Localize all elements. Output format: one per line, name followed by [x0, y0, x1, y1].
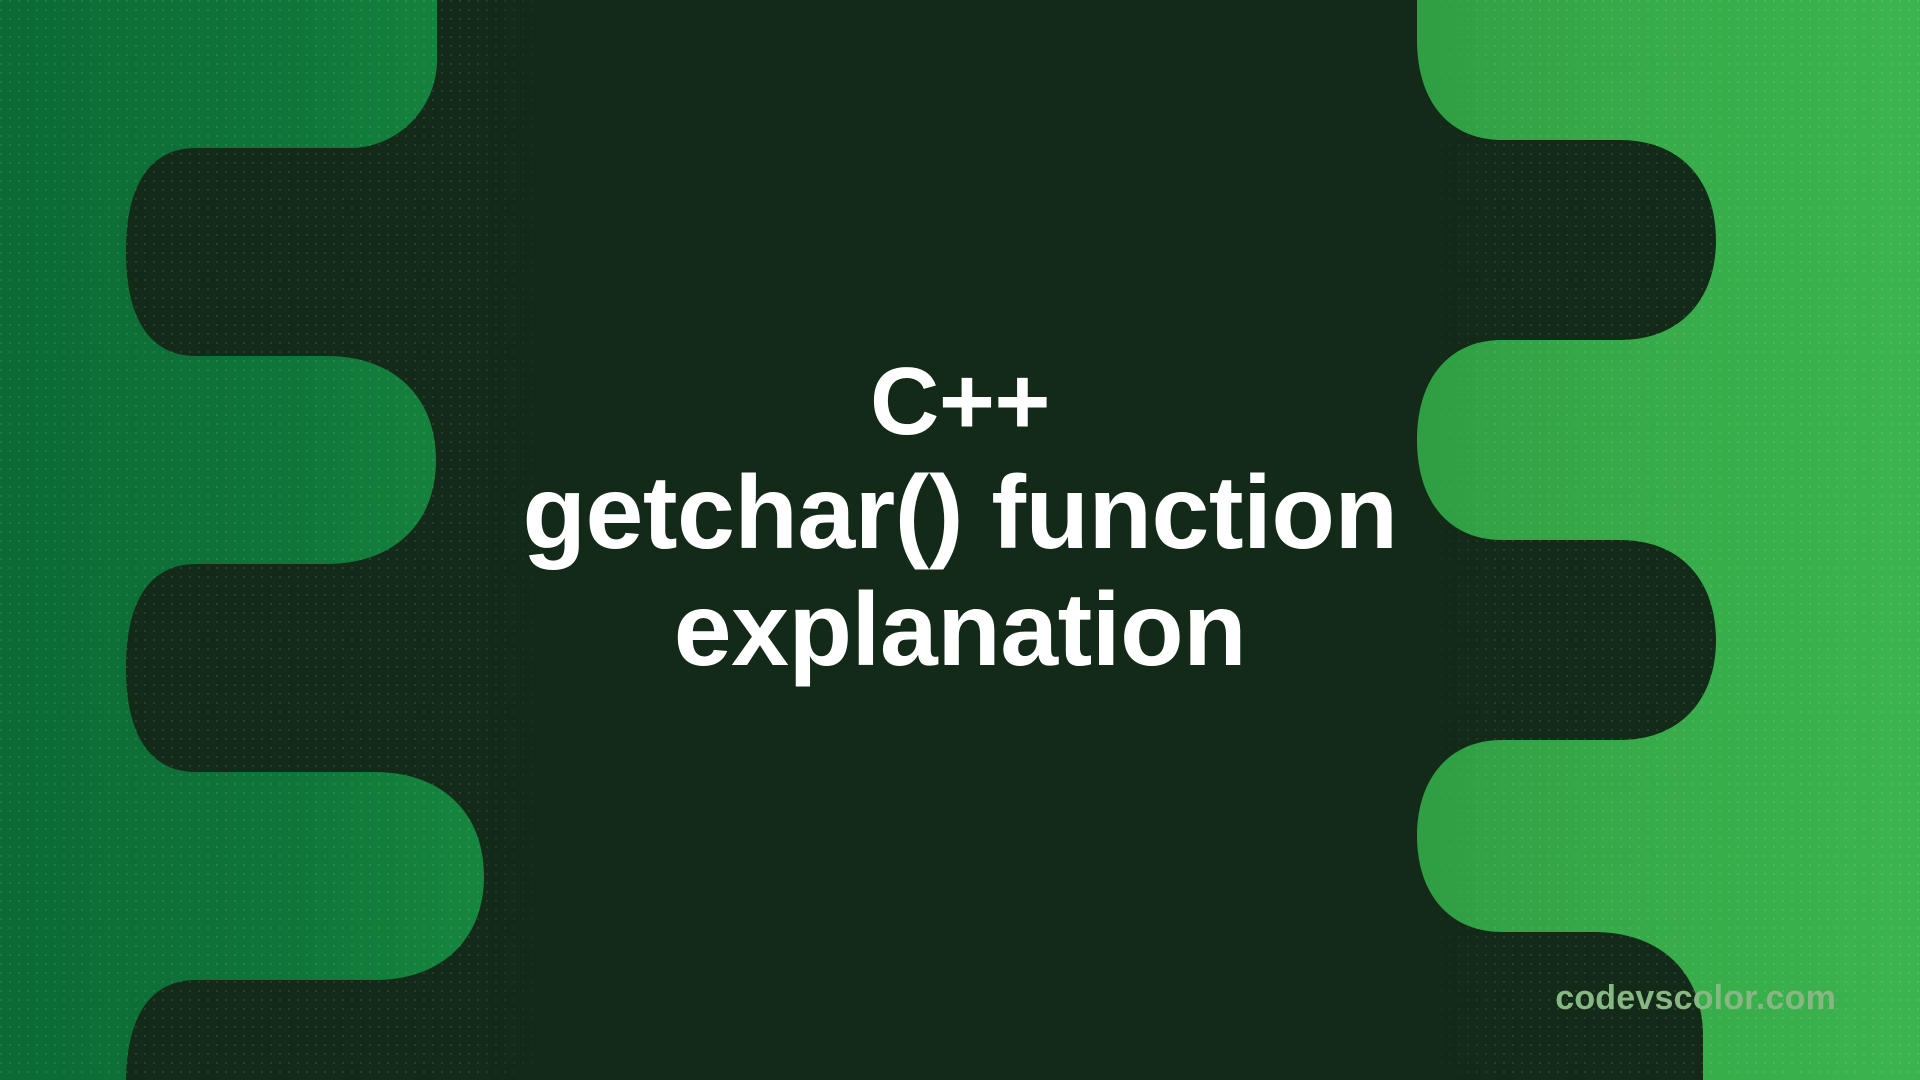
- blog-cover-banner: C++ getchar() function explanation codev…: [0, 0, 1920, 1080]
- title-line-2: getchar() function: [523, 455, 1398, 571]
- page-title: C++ getchar() function explanation: [143, 348, 1778, 688]
- headline-container: C++ getchar() function explanation: [0, 0, 1920, 1080]
- site-watermark: codevscolor.com: [1555, 979, 1836, 1018]
- title-line-1: C++: [523, 348, 1398, 456]
- title-line-3: explanation: [523, 572, 1398, 688]
